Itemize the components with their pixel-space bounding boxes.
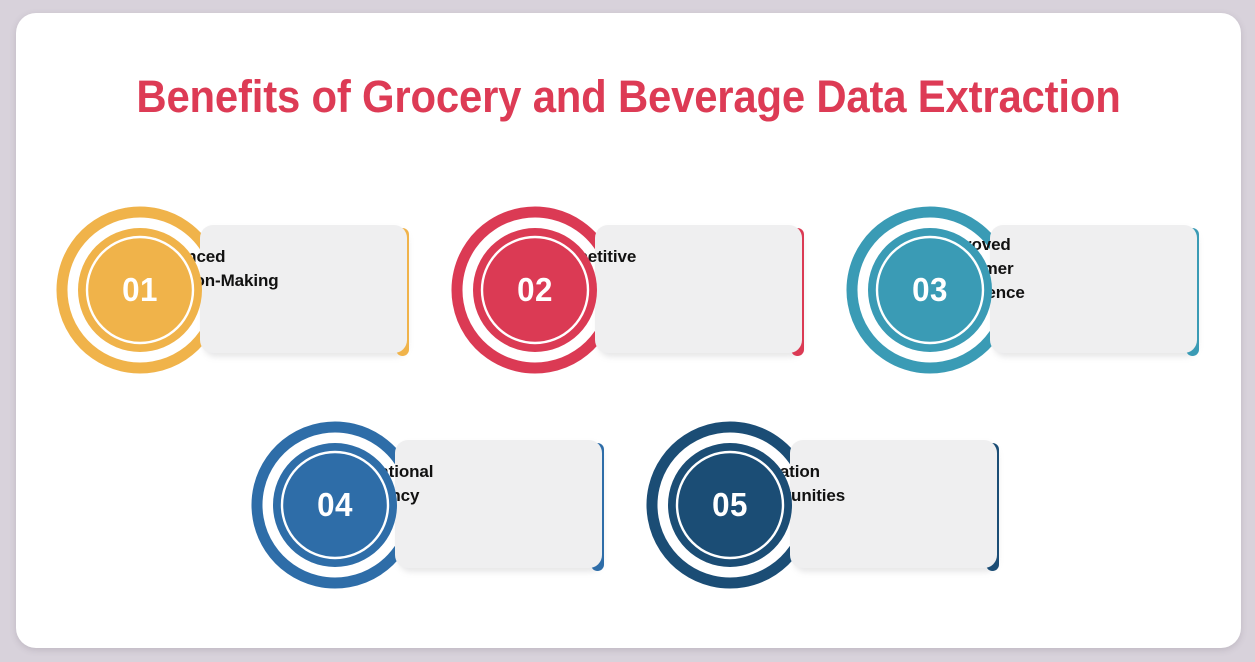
content-panel: Benefits of Grocery and Beverage Data Ex… [16,13,1241,648]
benefit-card[interactable]: 02CompetitiveEdge [450,205,808,375]
badge-number: 01 [59,205,221,375]
benefit-card[interactable]: 05InnovationOpportunities [645,420,1003,590]
badge-number: 03 [849,205,1011,375]
slide-root: Benefits of Grocery and Beverage Data Ex… [0,0,1255,662]
benefit-card[interactable]: 03ImprovedCustomerExperience [845,205,1203,375]
benefit-card-list: 01EnhancedDecision-Making02CompetitiveEd… [16,13,1241,648]
badge-number: 02 [454,205,616,375]
benefit-card[interactable]: 04OperationalEfficiency [250,420,608,590]
benefit-card[interactable]: 01EnhancedDecision-Making [55,205,413,375]
badge-number: 05 [649,420,811,590]
badge-number: 04 [254,420,416,590]
